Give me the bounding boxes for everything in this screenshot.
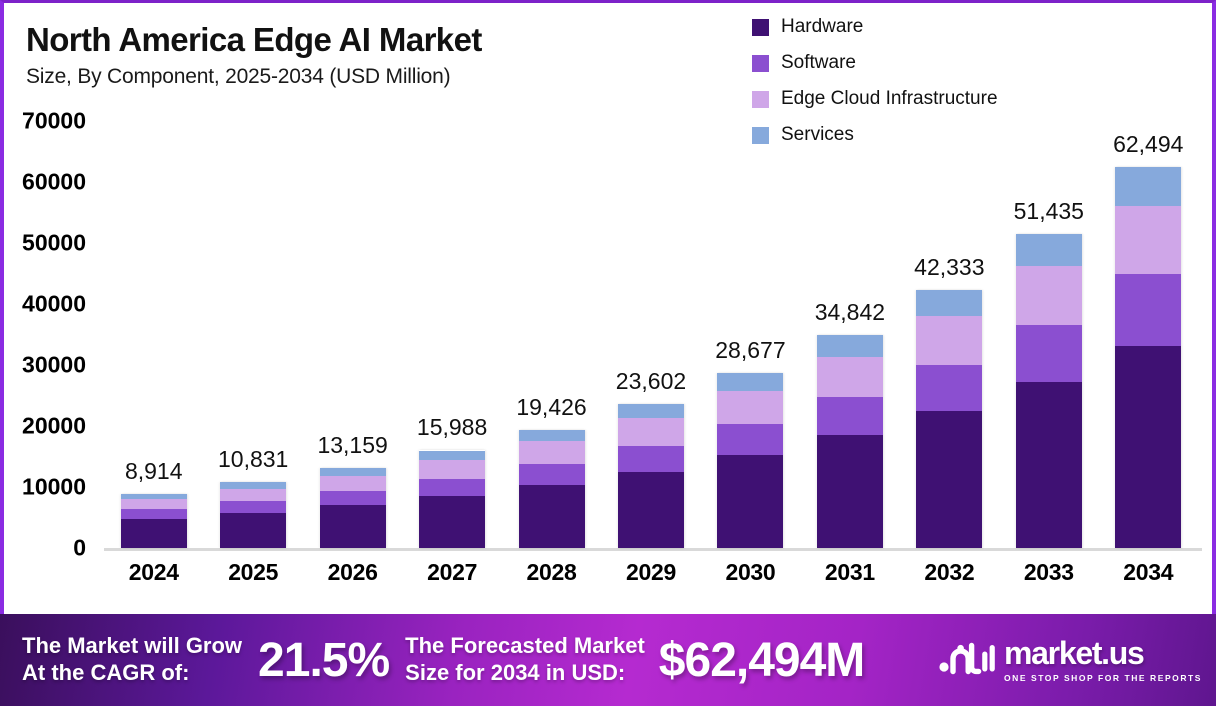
logo-wordmark: market.us [1004,637,1202,669]
bar-segment-software [916,365,982,411]
cagr-value: 21.5% [258,633,389,688]
bar-segment-services [419,451,485,461]
bar-segment-edge-cloud-infrastructure [1016,266,1082,326]
y-axis-tick-label: 0 [4,535,86,562]
legend-swatch-icon [752,19,769,36]
bar-segment-edge-cloud-infrastructure [220,489,286,502]
stacked-bar[interactable]: 15,988 [419,450,485,548]
bar-segment-services [320,468,386,476]
bar-segment-edge-cloud-infrastructure [519,441,585,464]
bar-value-label: 10,831 [218,446,288,473]
cagr-label: The Market will Grow At the CAGR of: [22,633,242,687]
x-axis-tick-2026: 2026 [303,559,402,586]
bar-segment-services [916,290,982,316]
stacked-bar[interactable]: 34,842 [817,335,883,548]
bar-segment-edge-cloud-infrastructure [320,476,386,491]
bar-segment-services [519,430,585,442]
bar-segment-services [817,335,883,356]
bar-segment-software [121,509,187,519]
bar-segment-software [618,446,684,472]
chart-infographic: North America Edge AI Market Size, By Co… [0,0,1216,706]
x-axis-labels: 2024202520262027202820292030203120322033… [104,559,1198,586]
legend-item-label: Edge Cloud Infrastructure [781,88,998,110]
bar-segment-hardware [121,519,187,548]
bar-value-label: 19,426 [516,394,586,421]
page-title: North America Edge AI Market [26,21,482,59]
logo-tagline: ONE STOP SHOP FOR THE REPORTS [1004,673,1202,683]
market-us-logo[interactable]: market.us ONE STOP SHOP FOR THE REPORTS [939,637,1202,683]
bar-segment-edge-cloud-infrastructure [916,316,982,365]
bar-series-group: 8,91410,83113,15915,98819,42623,60228,67… [104,121,1198,548]
stacked-bar[interactable]: 28,677 [717,373,783,548]
legend-item-hardware[interactable]: Hardware [752,9,998,45]
plot-area: 700006000050000400003000020000100000 8,9… [4,121,1212,551]
bar-segment-hardware [916,411,982,548]
x-axis-tick-2031: 2031 [800,559,899,586]
x-axis-tick-2030: 2030 [701,559,800,586]
stacked-bar[interactable]: 51,435 [1016,234,1082,548]
bar-segment-edge-cloud-infrastructure [419,460,485,479]
bar-segment-services [618,404,684,418]
forecast-label: The Forecasted Market Size for 2034 in U… [405,633,645,687]
bar-segment-software [320,491,386,505]
bar-segment-hardware [320,505,386,548]
bar-segment-services [1016,234,1082,265]
x-axis-tick-2032: 2032 [900,559,999,586]
bar-segment-edge-cloud-infrastructure [121,499,187,509]
stacked-bar[interactable]: 62,494 [1115,167,1181,548]
bar-column-2030[interactable]: 28,677 [701,121,800,548]
bar-segment-software [1115,274,1181,346]
footer-banner: The Market will Grow At the CAGR of: 21.… [0,614,1216,706]
x-axis-tick-2028: 2028 [502,559,601,586]
x-axis-tick-2027: 2027 [402,559,501,586]
market-us-logo-text: market.us ONE STOP SHOP FOR THE REPORTS [1004,637,1202,683]
bar-segment-software [717,424,783,455]
y-axis-tick-label: 70000 [4,108,86,135]
y-axis-tick-label: 20000 [4,413,86,440]
y-axis-tick-label: 40000 [4,291,86,318]
bar-segment-edge-cloud-infrastructure [817,357,883,397]
bar-column-2032[interactable]: 42,333 [900,121,999,548]
x-axis-tick-2029: 2029 [601,559,700,586]
bar-value-label: 62,494 [1113,131,1183,158]
bar-value-label: 15,988 [417,414,487,441]
bar-column-2026[interactable]: 13,159 [303,121,402,548]
x-axis-line [104,548,1202,551]
y-axis-tick-label: 30000 [4,352,86,379]
bar-value-label: 51,435 [1014,198,1084,225]
stacked-bar[interactable]: 19,426 [519,430,585,548]
legend-swatch-icon [752,55,769,72]
bar-column-2024[interactable]: 8,914 [104,121,203,548]
bar-column-2027[interactable]: 15,988 [402,121,501,548]
chart-header: North America Edge AI Market Size, By Co… [26,21,482,89]
stacked-bar[interactable]: 23,602 [618,404,684,548]
bar-segment-hardware [618,472,684,548]
bar-segment-software [1016,325,1082,381]
bar-column-2025[interactable]: 10,831 [203,121,302,548]
bar-segment-edge-cloud-infrastructure [1115,206,1181,274]
bar-value-label: 23,602 [616,368,686,395]
bar-segment-edge-cloud-infrastructure [618,418,684,445]
bar-value-label: 8,914 [125,458,183,485]
legend-item-edge-cloud-infrastructure[interactable]: Edge Cloud Infrastructure [752,81,998,117]
bar-value-label: 28,677 [715,337,785,364]
bar-segment-software [519,464,585,485]
stacked-bar[interactable]: 13,159 [320,468,386,548]
market-us-logo-icon [939,641,995,680]
bar-column-2029[interactable]: 23,602 [601,121,700,548]
bar-segment-hardware [717,455,783,548]
legend-item-label: Hardware [781,16,863,38]
y-axis-tick-label: 60000 [4,169,86,196]
x-axis-tick-2024: 2024 [104,559,203,586]
legend-swatch-icon [752,91,769,108]
x-axis-tick-2034: 2034 [1099,559,1198,586]
bar-column-2028[interactable]: 19,426 [502,121,601,548]
legend-item-software[interactable]: Software [752,45,998,81]
bar-segment-hardware [220,513,286,548]
bar-column-2034[interactable]: 62,494 [1099,121,1198,548]
bar-segment-software [419,479,485,497]
bar-value-label: 42,333 [914,254,984,281]
x-axis-tick-2033: 2033 [999,559,1098,586]
stacked-bar[interactable]: 8,914 [121,494,187,548]
bar-segment-services [1115,167,1181,206]
bar-segment-software [817,397,883,435]
y-axis-tick-label: 50000 [4,230,86,257]
bar-value-label: 13,159 [317,432,387,459]
cagr-label-line2: At the CAGR of: [22,660,242,687]
stacked-bar[interactable]: 42,333 [916,290,982,548]
bar-column-2031[interactable]: 34,842 [800,121,899,548]
bar-segment-hardware [519,485,585,548]
forecast-value: $62,494M [659,633,865,688]
bar-segment-services [717,373,783,390]
chart-subtitle: Size, By Component, 2025-2034 (USD Milli… [26,65,482,89]
bar-segment-software [220,501,286,513]
bar-value-label: 34,842 [815,299,885,326]
cagr-label-line1: The Market will Grow [22,633,242,660]
legend-item-label: Software [781,52,856,74]
stacked-bar[interactable]: 10,831 [220,482,286,548]
bar-segment-services [220,482,286,489]
bar-segment-hardware [1016,382,1082,548]
forecast-label-line1: The Forecasted Market [405,633,645,660]
bar-segment-hardware [817,435,883,548]
bar-column-2033[interactable]: 51,435 [999,121,1098,548]
forecast-label-line2: Size for 2034 in USD: [405,660,645,687]
bar-segment-hardware [1115,346,1181,548]
bar-segment-hardware [419,496,485,548]
x-axis-tick-2025: 2025 [203,559,302,586]
y-axis-tick-label: 10000 [4,474,86,501]
bar-segment-edge-cloud-infrastructure [717,391,783,424]
